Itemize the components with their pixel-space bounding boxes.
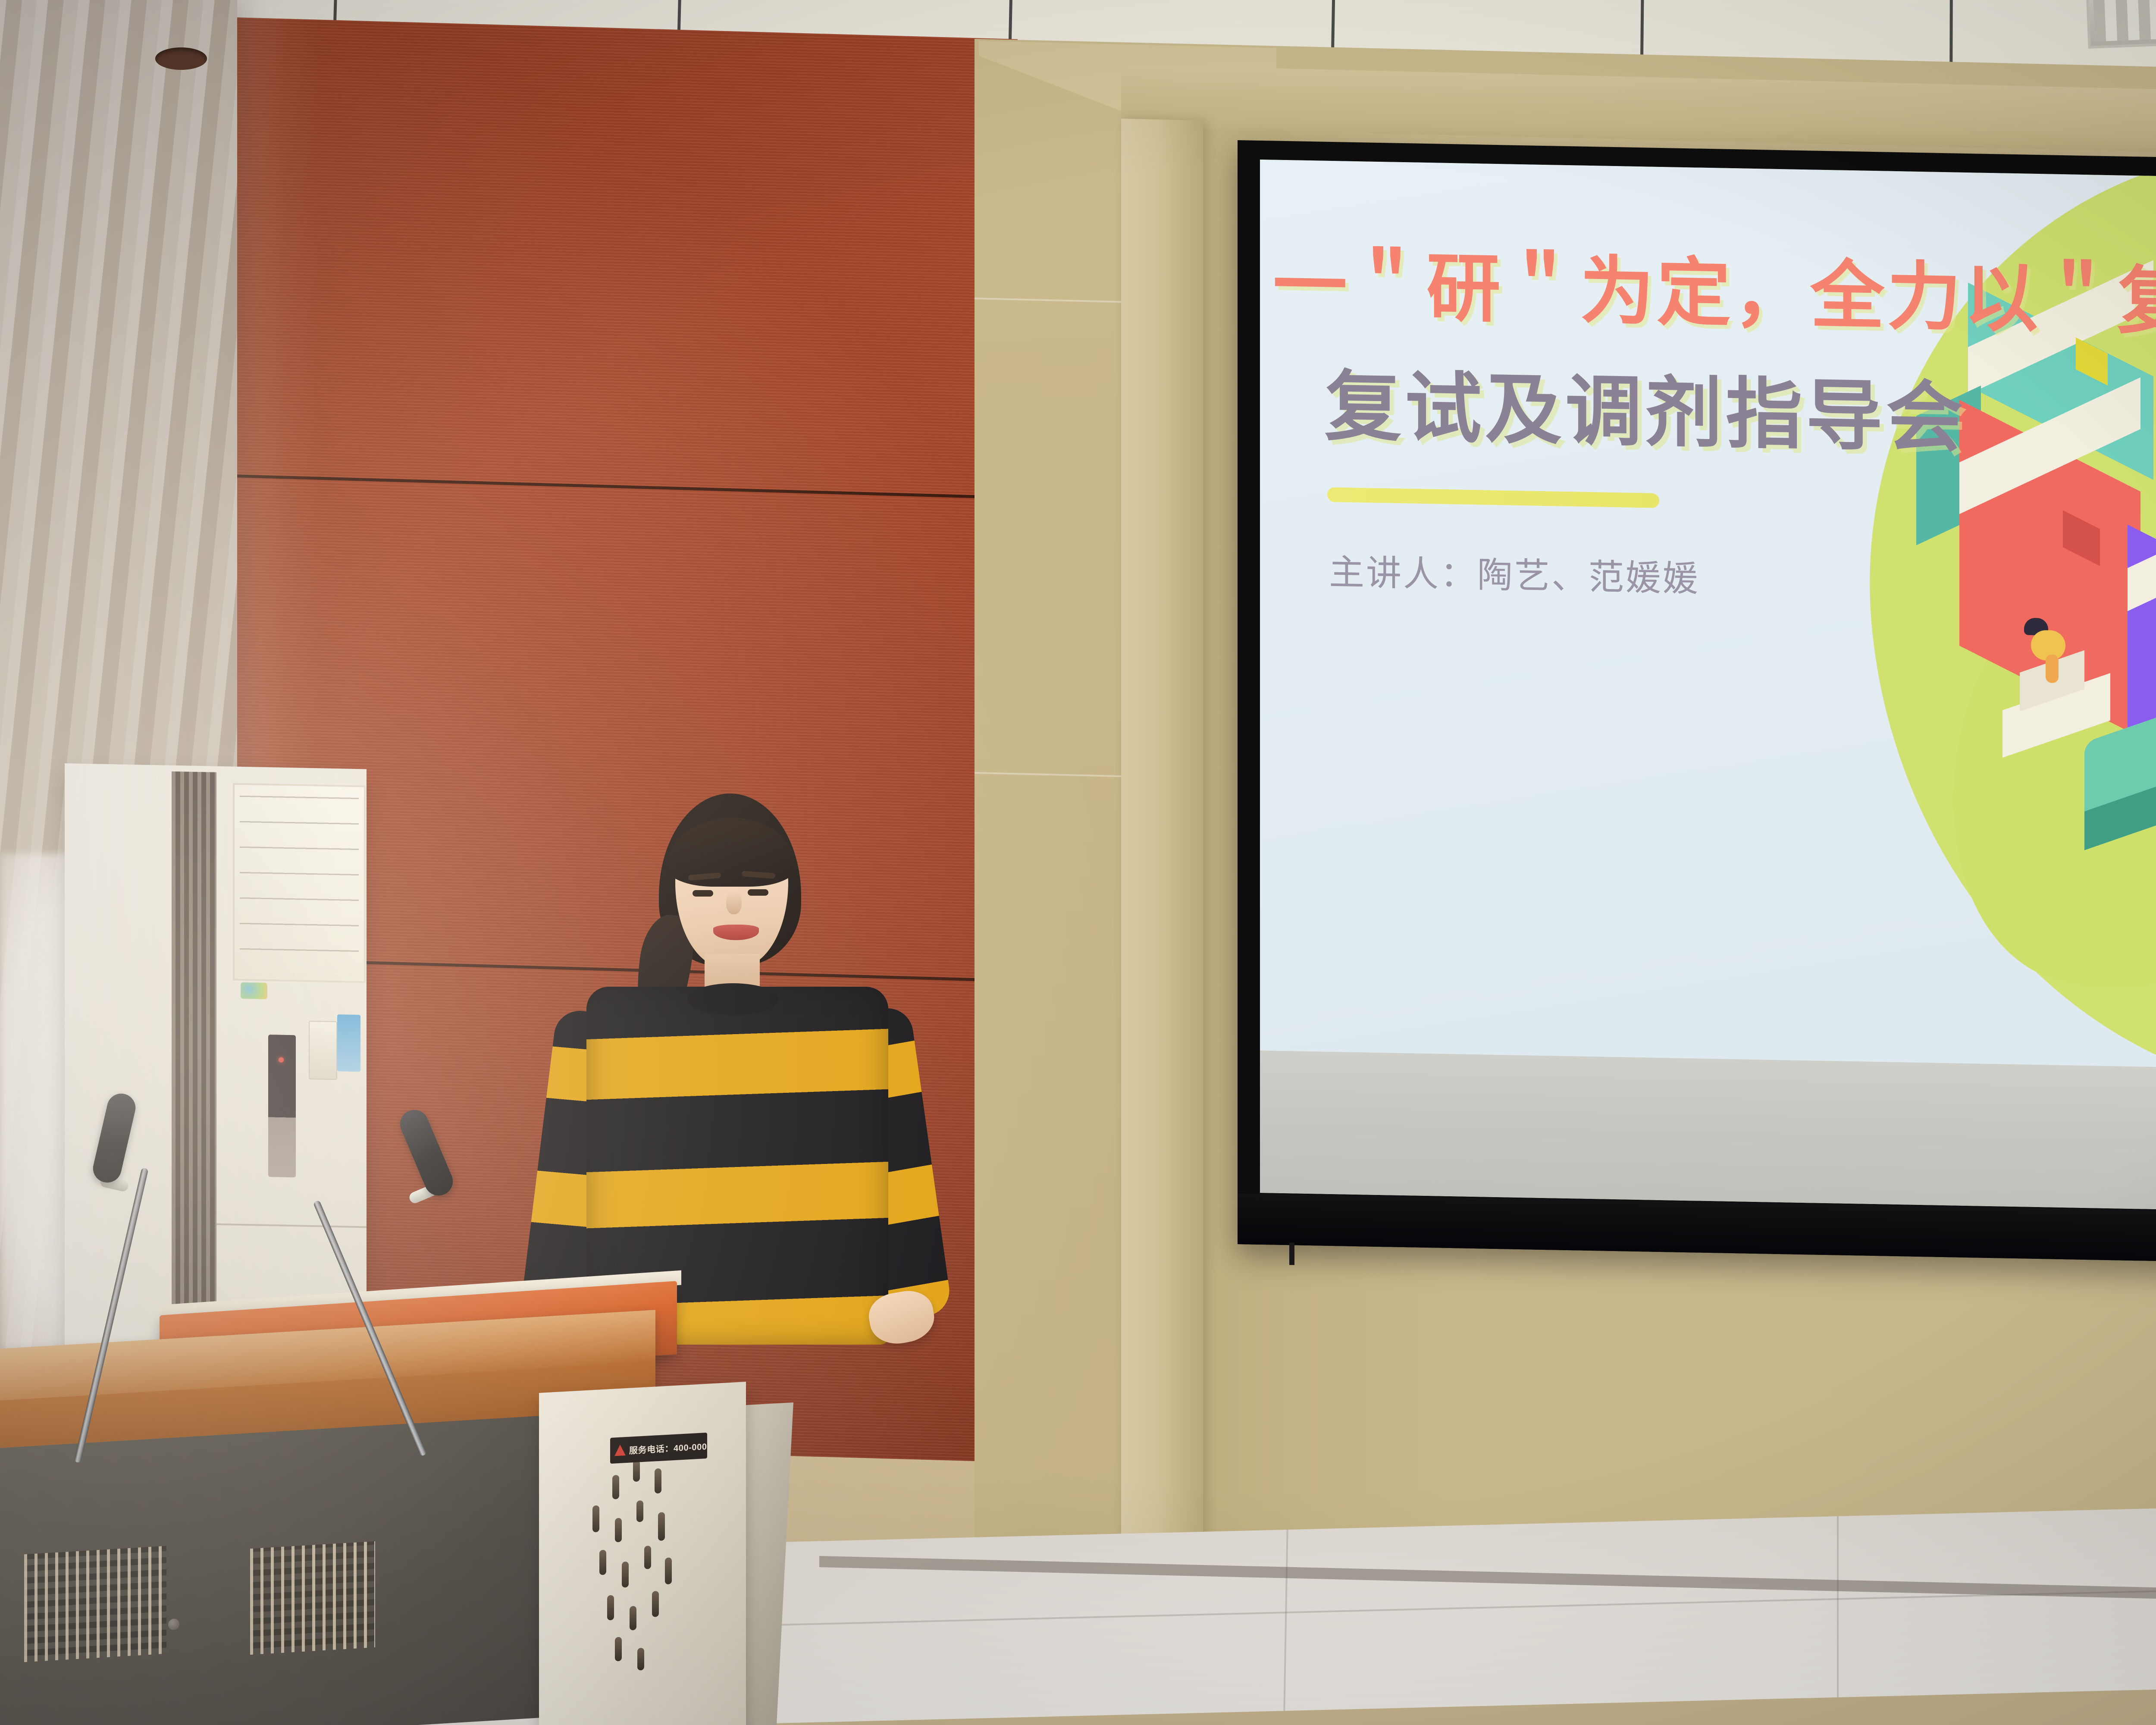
ac-display-panel[interactable] (268, 1035, 296, 1177)
ac-front-panel (233, 783, 366, 983)
slide-underline-rule (1327, 487, 1659, 508)
projection-screen[interactable]: 一＂研＂为定，全力以＂复＂ 复试及调剂指导会 主讲人：陶艺、范媛媛 (1238, 140, 2156, 1269)
photo-scene: 一＂研＂为定，全力以＂复＂ 复试及调剂指导会 主讲人：陶艺、范媛媛 (0, 0, 2156, 1725)
lectern-screw-icon (168, 1618, 179, 1631)
lectern-service-label: 服务电话：400-000-0000 (610, 1433, 707, 1464)
ac-brand-sticker-icon (241, 982, 267, 999)
curtain-grommet (155, 47, 207, 70)
slide-subtitle: 主讲人：陶艺、范媛媛 (1329, 543, 2045, 608)
slide-title-line-2: 复试及调剂指导会 (1325, 345, 2045, 469)
projected-slide: 一＂研＂为定，全力以＂复＂ 复试及调剂指导会 主讲人：陶艺、范媛媛 (1260, 160, 2156, 1075)
ceiling-air-vent-icon (2086, 0, 2156, 49)
ac-info-sticker-icon (337, 1014, 360, 1072)
presenter-sweater-collar (687, 983, 779, 1015)
lectern-vent-grille-right (250, 1541, 375, 1655)
slide-text-block: 一＂研＂为定，全力以＂复＂ 复试及调剂指导会 主讲人：陶艺、范媛媛 (1286, 225, 2045, 608)
slide-title-line-1: 一＂研＂为定，全力以＂复＂ (1273, 225, 2045, 347)
mic-head-left (90, 1091, 138, 1185)
figure-person-climbing (2020, 618, 2080, 684)
ac-energy-label-icon (309, 1021, 337, 1080)
screen-hook-left (1289, 1242, 1294, 1265)
screen-surface: 一＂研＂为定，全力以＂复＂ 复试及调剂指导会 主讲人：陶艺、范媛媛 (1260, 160, 2156, 1217)
lectern-side-cabinet[interactable] (539, 1382, 746, 1725)
gooseneck-microphone-right[interactable] (310, 1121, 509, 1414)
gooseneck-microphone-left[interactable] (43, 1104, 198, 1414)
lectern-vent-grille-left (24, 1546, 166, 1662)
service-mark-icon (614, 1444, 626, 1456)
wall-pilaster (1121, 119, 1203, 1587)
presenter-eye-left (693, 890, 713, 897)
presenter-eye-right (748, 889, 768, 896)
lectern-service-text: 服务电话：400-000-0000 (629, 1438, 707, 1456)
presenter-nose (726, 891, 742, 914)
screen-unlit-area (1260, 1051, 2156, 1217)
lectern-front-panel (0, 1415, 548, 1725)
